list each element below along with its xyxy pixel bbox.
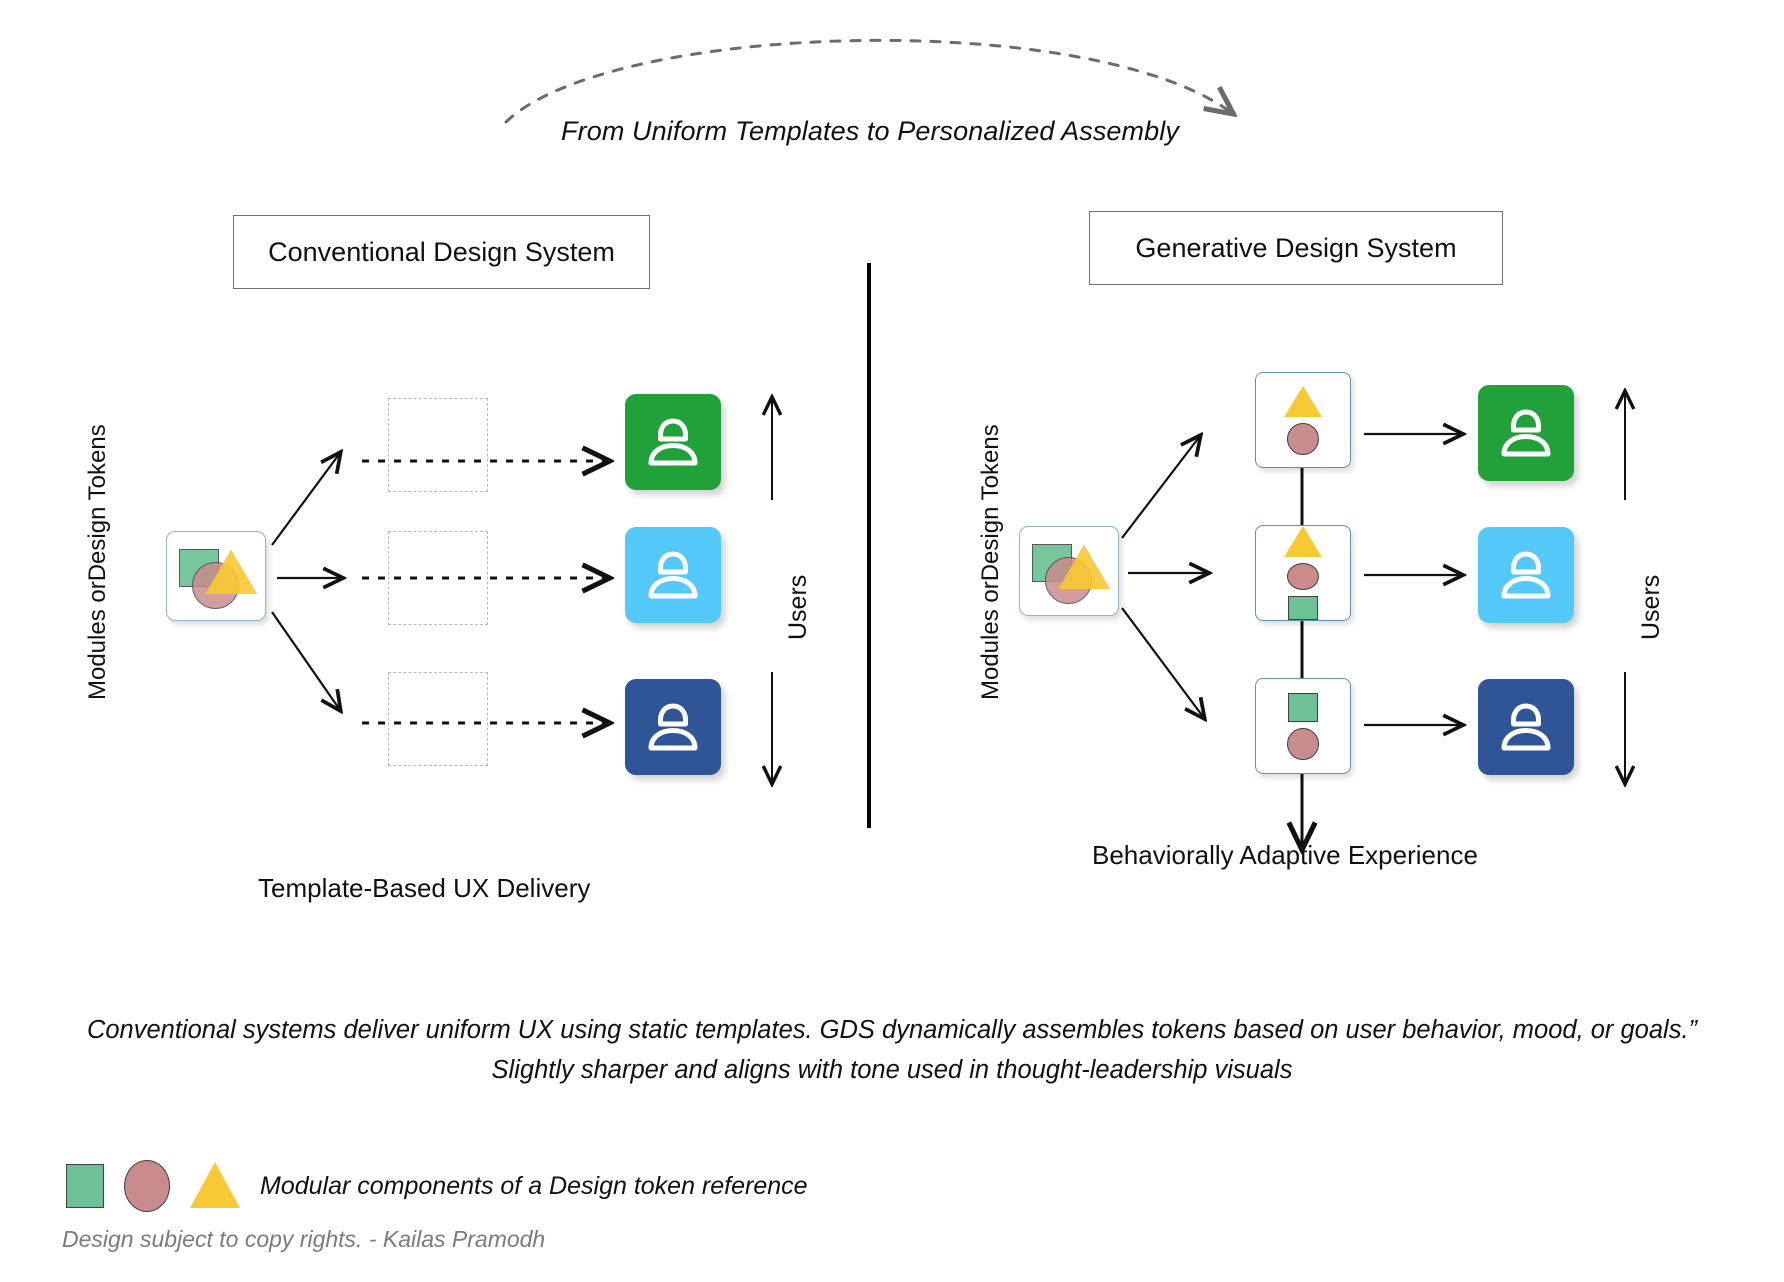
user-avatar-tile-lightblue[interactable]: [1478, 527, 1574, 623]
left-panel-caption: Template-Based UX Delivery: [258, 873, 590, 904]
user-avatar-tile-lightblue[interactable]: [625, 527, 721, 623]
user-avatar-tile-navy[interactable]: [1478, 679, 1574, 775]
template-placeholder[interactable]: [388, 672, 488, 766]
user-avatar-icon: [643, 697, 703, 757]
summary-line-1: Conventional systems deliver uniform UX …: [42, 1010, 1742, 1050]
token-circle-icon: [1287, 728, 1319, 760]
diagram-canvas: From Uniform Templates to Personalized A…: [0, 0, 1784, 1282]
left-axis-label: Modules orDesign Tokens: [84, 424, 112, 700]
summary-text: Conventional systems deliver uniform UX …: [42, 1010, 1742, 1090]
token-square-icon: [1288, 693, 1318, 722]
design-token-source-right[interactable]: [1019, 526, 1119, 616]
transition-arc-icon: [506, 40, 1232, 122]
user-avatar-icon: [1496, 545, 1556, 605]
panel-header-conventional: Conventional Design System: [233, 215, 650, 289]
token-circle-icon: [1287, 563, 1319, 590]
token-triangle-icon: [205, 550, 257, 594]
adaptive-token-chip[interactable]: [1255, 525, 1351, 621]
right-delivery-arrows: [1364, 434, 1462, 725]
legend-square-icon: [66, 1164, 104, 1208]
summary-line-2: Slightly sharper and aligns with tone us…: [42, 1050, 1742, 1090]
left-fanout-arrows: [272, 453, 342, 710]
right-fanout-arrows: [1122, 436, 1208, 718]
token-circle-icon: [1287, 423, 1319, 455]
user-avatar-tile-navy[interactable]: [625, 679, 721, 775]
user-avatar-icon: [1496, 697, 1556, 757]
user-avatar-icon: [643, 412, 703, 472]
token-triangle-icon: [1284, 386, 1322, 417]
panel-header-generative: Generative Design System: [1089, 211, 1503, 285]
design-token-source-left[interactable]: [166, 531, 266, 621]
user-avatar-tile-green[interactable]: [625, 394, 721, 490]
left-users-label: Users: [784, 575, 813, 640]
token-triangle-icon: [1058, 545, 1110, 589]
user-avatar-icon: [1496, 403, 1556, 463]
template-placeholder[interactable]: [388, 531, 488, 625]
token-square-icon: [1288, 596, 1318, 620]
user-avatar-tile-green[interactable]: [1478, 385, 1574, 481]
user-avatar-icon: [643, 545, 703, 605]
right-axis-label: Modules orDesign Tokens: [977, 424, 1005, 700]
legend-label: Modular components of a Design token ref…: [260, 1172, 808, 1201]
adaptive-token-chip[interactable]: [1255, 678, 1351, 774]
legend-triangle-icon: [190, 1162, 240, 1208]
template-placeholder[interactable]: [388, 398, 488, 492]
credit-line: Design subject to copy rights. - Kailas …: [62, 1226, 545, 1253]
token-triangle-icon: [1284, 526, 1322, 557]
arc-caption: From Uniform Templates to Personalized A…: [560, 116, 1180, 147]
right-panel-caption: Behaviorally Adaptive Experience: [1092, 840, 1478, 871]
adaptive-token-chip[interactable]: [1255, 372, 1351, 468]
legend-circle-icon: [124, 1160, 170, 1212]
right-users-label: Users: [1637, 575, 1666, 640]
